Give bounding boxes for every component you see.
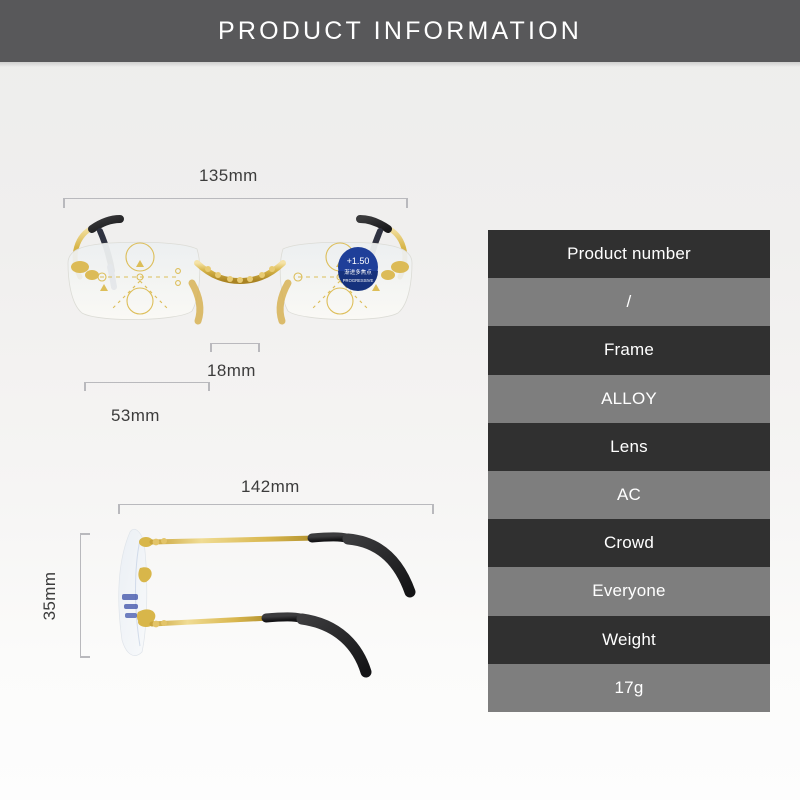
product-information-page: PRODUCT INFORMATION [0, 0, 800, 800]
dimension-bracket-temple-length [118, 504, 434, 505]
header-bar: PRODUCT INFORMATION [0, 0, 800, 62]
dimension-label-lens-width: 53mm [111, 406, 160, 426]
table-row: Frame [488, 326, 770, 374]
glasses-side-view-image [100, 520, 445, 680]
table-row: Product number [488, 230, 770, 278]
dimension-bracket-lens-height [80, 533, 81, 658]
table-row: ALLOY [488, 375, 770, 423]
glasses-front-view-image: +1.50 渐进多焦点 PROGRESSIVE [40, 205, 440, 340]
svg-text:渐进多焦点: 渐进多焦点 [344, 268, 372, 276]
table-row: Weight [488, 616, 770, 664]
svg-text:+1.50: +1.50 [347, 256, 370, 266]
dimension-bracket-lens-width [84, 382, 210, 391]
page-title: PRODUCT INFORMATION [218, 17, 582, 46]
table-row: / [488, 278, 770, 326]
table-row: Everyone [488, 567, 770, 615]
header-shadow [0, 62, 800, 67]
dimension-bracket-bridge-width [210, 343, 260, 352]
dimension-bracket-total-width [63, 198, 408, 199]
lens-power-sticker: +1.50 渐进多焦点 PROGRESSIVE [338, 247, 378, 291]
table-row: Lens [488, 423, 770, 471]
table-row: 17g [488, 664, 770, 712]
dimension-label-lens-height: 35mm [40, 566, 60, 626]
table-row: Crowd [488, 519, 770, 567]
dimension-label-bridge-width: 18mm [207, 361, 256, 381]
table-row: AC [488, 471, 770, 519]
svg-text:PROGRESSIVE: PROGRESSIVE [343, 278, 374, 283]
dimension-label-total-width: 135mm [199, 166, 258, 186]
specification-table: Product number / Frame ALLOY Lens AC Cro… [488, 230, 770, 712]
dimension-label-temple-length: 142mm [241, 477, 300, 497]
